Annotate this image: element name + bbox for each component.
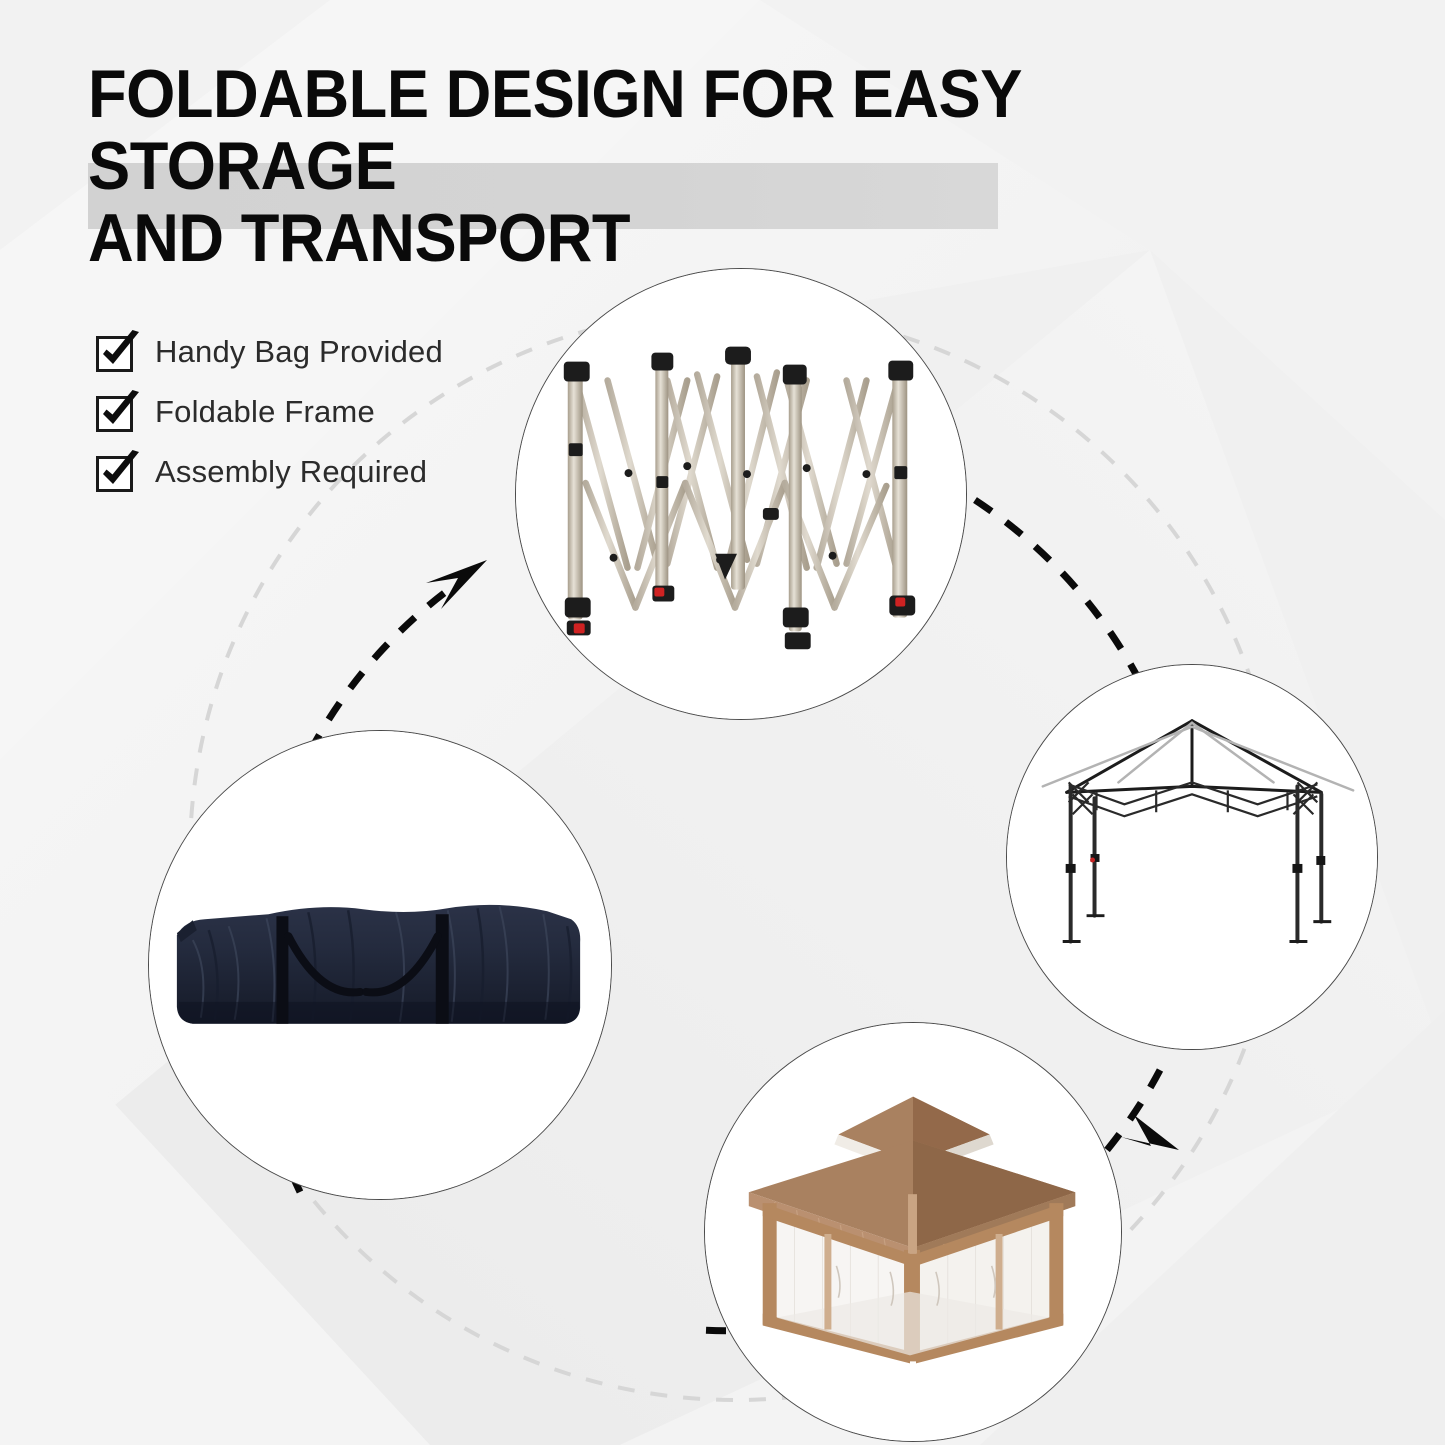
checkbox-checked-icon (95, 330, 141, 374)
list-item: Handy Bag Provided (95, 322, 443, 382)
checkbox-checked-icon (95, 390, 141, 434)
erected-frame-photo (1006, 664, 1378, 1050)
infographic-canvas: FOLDABLE DESIGN FOR EASY STORAGE AND TRA… (0, 0, 1445, 1445)
feature-label: Handy Bag Provided (155, 334, 443, 370)
list-item: Foldable Frame (95, 382, 443, 442)
page-title: FOLDABLE DESIGN FOR EASY STORAGE AND TRA… (88, 58, 1195, 274)
feature-list: Handy Bag Provided Foldable Frame Assemb… (95, 322, 443, 502)
assembled-gazebo-photo (704, 1022, 1122, 1442)
feature-label: Assembly Required (155, 454, 427, 490)
carry-bag-photo (148, 730, 612, 1200)
feature-label: Foldable Frame (155, 394, 375, 430)
list-item: Assembly Required (95, 442, 443, 502)
checkbox-checked-icon (95, 450, 141, 494)
folded-frame-photo (515, 268, 967, 720)
